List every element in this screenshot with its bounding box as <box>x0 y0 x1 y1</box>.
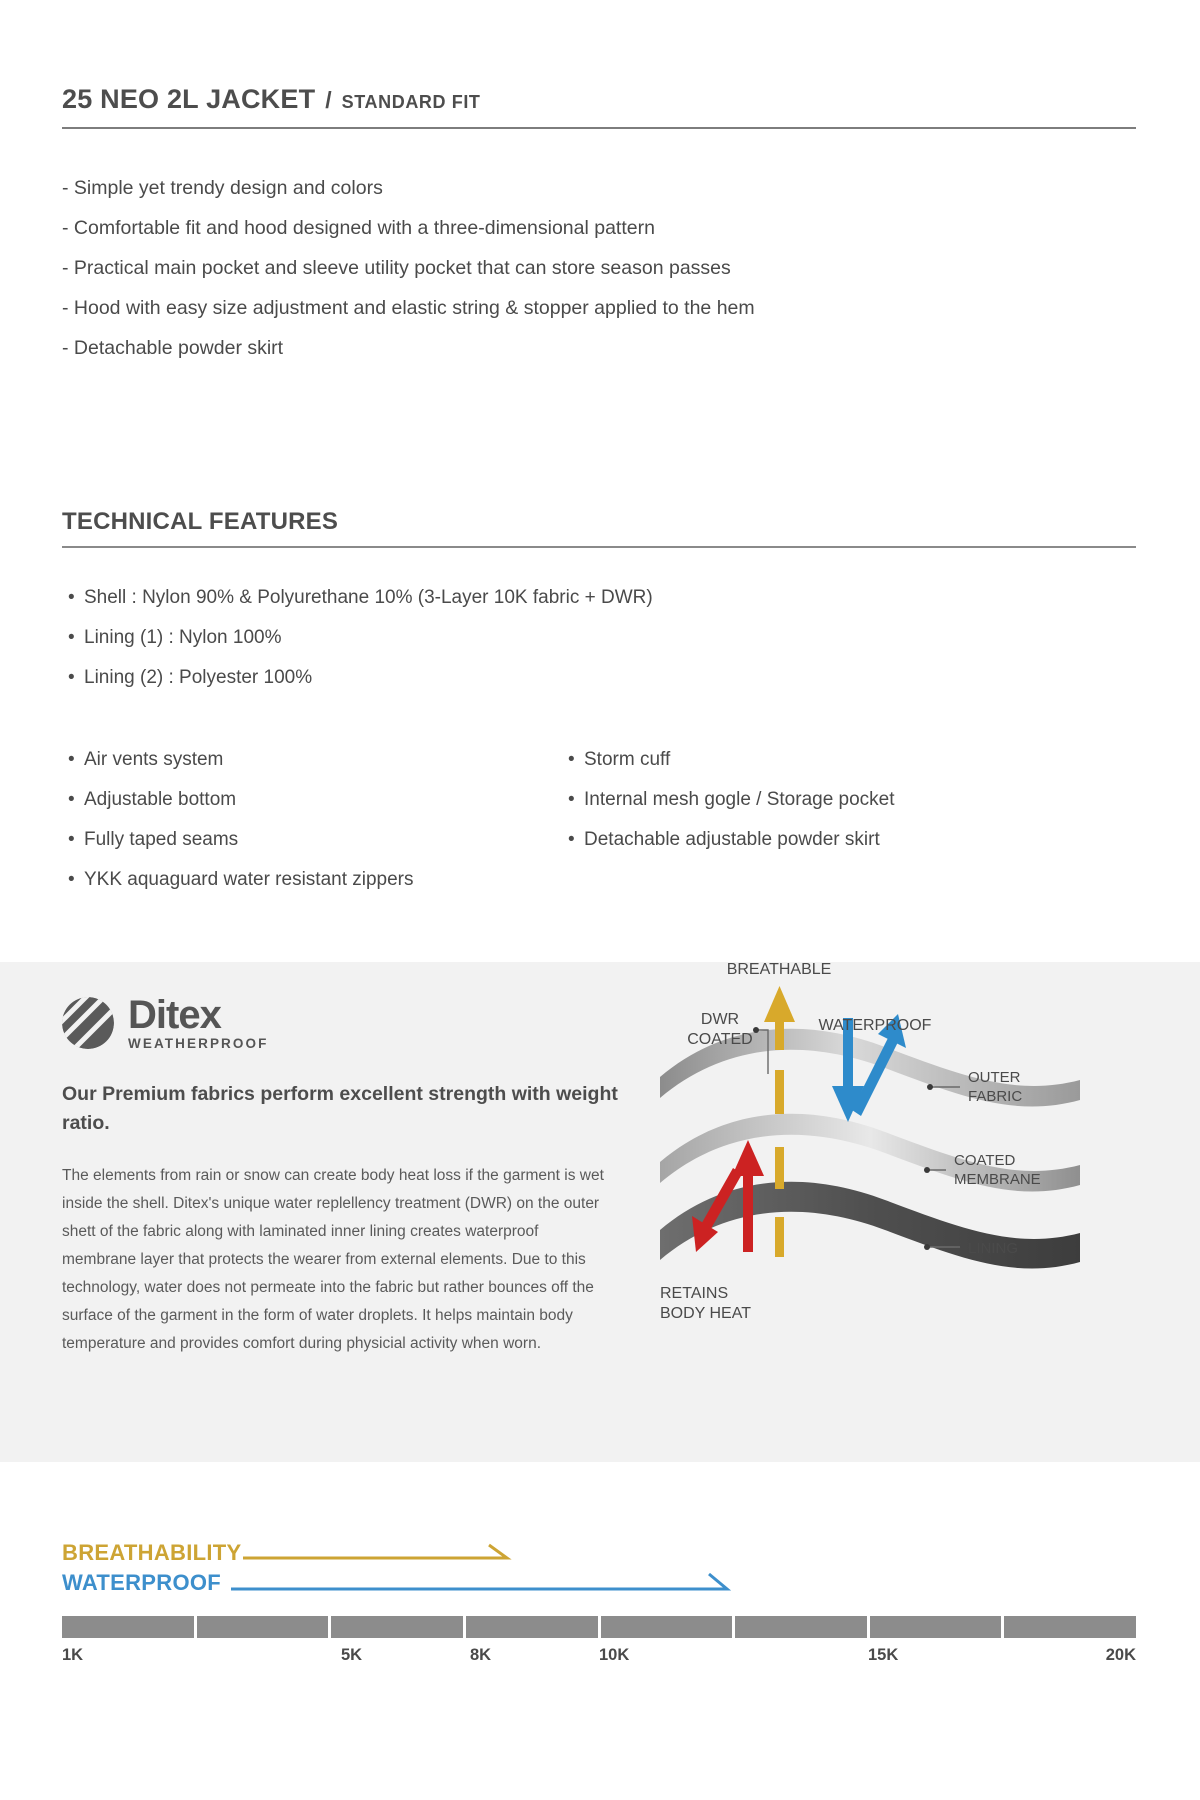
breathability-label: BREATHABILITY <box>62 1540 241 1566</box>
scale-tick: 20K <box>1106 1646 1136 1665</box>
materials-list: •Shell : Nylon 90% & Polyurethane 10% (3… <box>68 578 653 698</box>
list-item: •YKK aquaguard water resistant zippers <box>68 860 568 900</box>
material-text: Shell : Nylon 90% & Polyurethane 10% (3-… <box>84 587 653 608</box>
waterproof-arrow-icon <box>221 1570 741 1596</box>
product-feature-list: - Simple yet trendy design and colors - … <box>62 168 755 368</box>
label-retains-line1: RETAINS <box>660 1285 728 1302</box>
specs-columns: •Air vents system •Adjustable bottom •Fu… <box>68 740 1068 900</box>
list-item: •Fully taped seams <box>68 820 568 860</box>
scale-tick: 15K <box>868 1646 898 1665</box>
scale-segment <box>62 1616 197 1638</box>
product-fit-label: STANDARD FIT <box>342 92 481 113</box>
page-title: 25 NEO 2L JACKET / STANDARD FIT <box>62 84 1136 129</box>
spec-text: Detachable adjustable powder skirt <box>584 829 880 850</box>
spec-text: Air vents system <box>84 749 223 770</box>
ditex-lead-text: Our Premium fabrics perform excellent st… <box>62 1080 622 1138</box>
bullet-icon: • <box>568 740 584 780</box>
bullet-icon: • <box>68 658 84 698</box>
list-item: - Comfortable fit and hood designed with… <box>62 208 755 248</box>
bullet-icon: • <box>68 740 84 780</box>
list-item: •Adjustable bottom <box>68 780 568 820</box>
waterproof-label: WATERPROOF <box>62 1570 221 1596</box>
technical-features-title: TECHNICAL FEATURES <box>62 508 1136 548</box>
list-item: •Lining (1) : Nylon 100% <box>68 618 653 658</box>
scale-legend-rows: BREATHABILITY WATERPROOF <box>62 1538 741 1598</box>
fabric-diagram-svg: BREATHABLE DWR COATED WATERPROOF OUTER F… <box>630 962 1200 1462</box>
breathability-arrow-icon <box>241 1541 521 1565</box>
product-title-main: 25 NEO 2L JACKET <box>62 84 315 115</box>
label-membrane-line1: COATED <box>954 1152 1016 1169</box>
ditex-panel: Ditex WEATHERPROOF Our Premium fabrics p… <box>0 962 1200 1462</box>
scale-segment <box>466 1616 601 1638</box>
label-dwr-line1: DWR <box>701 1011 739 1028</box>
scale-segment <box>735 1616 870 1638</box>
label-breathable: BREATHABLE <box>727 962 832 978</box>
lining-leader-dot <box>924 1244 930 1250</box>
label-waterproof: WATERPROOF <box>819 1017 932 1034</box>
spec-text: Internal mesh gogle / Storage pocket <box>584 789 895 810</box>
scale-tick: 1K <box>62 1646 83 1665</box>
scale-bar <box>62 1616 1136 1638</box>
fabric-layer-diagram: BREATHABLE DWR COATED WATERPROOF OUTER F… <box>630 962 1200 1462</box>
list-item: •Detachable adjustable powder skirt <box>568 820 1048 860</box>
membrane-leader-dot <box>924 1167 930 1173</box>
outer-leader-dot <box>927 1084 933 1090</box>
label-membrane-line2: MEMBRANE <box>954 1171 1041 1188</box>
bullet-icon: • <box>68 618 84 658</box>
list-item: •Air vents system <box>68 740 568 780</box>
scale-segment <box>1004 1616 1136 1638</box>
label-lining: LINING <box>968 1240 1018 1257</box>
scale-segment <box>601 1616 736 1638</box>
label-retains-line2: BODY HEAT <box>660 1305 751 1322</box>
list-item: - Practical main pocket and sleeve utili… <box>62 248 755 288</box>
ditex-mark-icon <box>62 997 114 1049</box>
ditex-logo-text: Ditex WEATHERPROOF <box>128 995 268 1051</box>
specs-column-left: •Air vents system •Adjustable bottom •Fu… <box>68 740 568 900</box>
material-text: Lining (2) : Polyester 100% <box>84 667 312 688</box>
scale-tick-labels: 1K 5K 8K 10K 15K 20K <box>62 1646 1136 1672</box>
bullet-icon: • <box>68 820 84 860</box>
scale-segment <box>197 1616 332 1638</box>
list-item: - Hood with easy size adjustment and ela… <box>62 288 755 328</box>
bullet-icon: • <box>568 780 584 820</box>
list-item: - Simple yet trendy design and colors <box>62 168 755 208</box>
list-item: - Detachable powder skirt <box>62 328 755 368</box>
ditex-logo: Ditex WEATHERPROOF <box>62 995 268 1051</box>
product-header: 25 NEO 2L JACKET / STANDARD FIT <box>62 84 1136 129</box>
list-item: •Internal mesh gogle / Storage pocket <box>568 780 1048 820</box>
scale-tick: 10K <box>599 1646 629 1665</box>
spec-text: YKK aquaguard water resistant zippers <box>84 869 414 890</box>
dwr-leader-dot <box>753 1027 759 1033</box>
scale-segment <box>331 1616 466 1638</box>
bullet-icon: • <box>68 780 84 820</box>
scale-segment <box>870 1616 1005 1638</box>
specs-column-right: •Storm cuff •Internal mesh gogle / Stora… <box>568 740 1048 860</box>
list-item: •Lining (2) : Polyester 100% <box>68 658 653 698</box>
bullet-icon: • <box>68 578 84 618</box>
waterproof-row: WATERPROOF <box>62 1568 741 1598</box>
ditex-brand-name: Ditex <box>128 995 268 1035</box>
label-outer-fabric-line2: FABRIC <box>968 1088 1022 1105</box>
label-outer-fabric-line1: OUTER <box>968 1069 1021 1086</box>
ditex-body-text: The elements from rain or snow can creat… <box>62 1162 614 1358</box>
bullet-icon: • <box>68 860 84 900</box>
ditex-tagline: WEATHERPROOF <box>128 1037 268 1051</box>
breathability-row: BREATHABILITY <box>62 1538 741 1568</box>
spec-text: Adjustable bottom <box>84 789 236 810</box>
label-dwr-line2: COATED <box>687 1031 752 1048</box>
material-text: Lining (1) : Nylon 100% <box>84 627 282 648</box>
spec-text: Storm cuff <box>584 749 670 770</box>
list-item: •Shell : Nylon 90% & Polyurethane 10% (3… <box>68 578 653 618</box>
scale-tick: 8K <box>470 1646 491 1665</box>
technical-features-header: TECHNICAL FEATURES <box>62 508 1136 548</box>
list-item: •Storm cuff <box>568 740 1048 780</box>
product-spec-page: 25 NEO 2L JACKET / STANDARD FIT - Simple… <box>0 0 1200 1800</box>
spec-text: Fully taped seams <box>84 829 238 850</box>
title-separator: / <box>325 87 331 114</box>
bullet-icon: • <box>568 820 584 860</box>
scale-tick: 5K <box>341 1646 362 1665</box>
